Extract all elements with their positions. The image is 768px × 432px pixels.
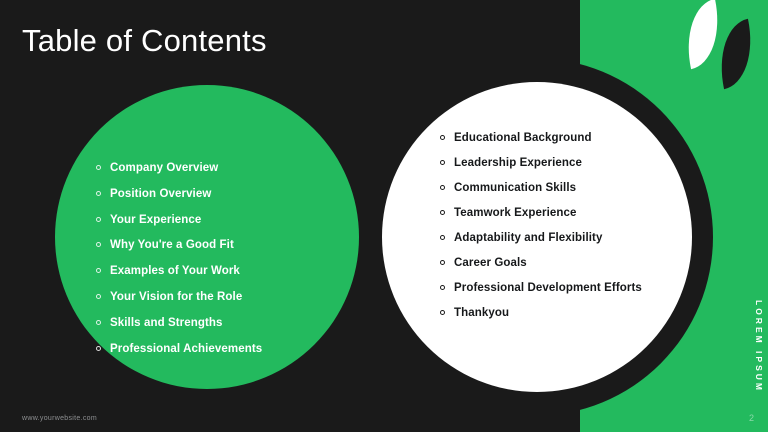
list-item[interactable]: Career Goals — [440, 256, 672, 270]
toc-left-item-label: Professional Achievements — [110, 342, 262, 356]
bullet-circle-icon — [440, 160, 445, 165]
toc-right-item-label: Leadership Experience — [454, 156, 582, 170]
list-item[interactable]: Why You're a Good Fit — [96, 238, 346, 252]
footer-website-url[interactable]: www.yourwebsite.com — [22, 415, 97, 422]
side-label: LOREM IPSUM — [754, 300, 764, 393]
toc-list-left: Company OverviewPosition OverviewYour Ex… — [96, 161, 346, 368]
bullet-circle-icon — [96, 165, 101, 170]
toc-left-item-label: Company Overview — [110, 161, 218, 175]
toc-left-item-label: Examples of Your Work — [110, 264, 240, 278]
list-item[interactable]: Thankyou — [440, 306, 672, 320]
toc-right-item-label: Thankyou — [454, 306, 509, 320]
bullet-circle-icon — [440, 260, 445, 265]
bullet-circle-icon — [440, 235, 445, 240]
bullet-circle-icon — [440, 185, 445, 190]
list-item[interactable]: Professional Achievements — [96, 342, 346, 356]
list-item[interactable]: Professional Development Efforts — [440, 281, 672, 295]
bullet-circle-icon — [96, 191, 101, 196]
bullet-circle-icon — [440, 310, 445, 315]
toc-left-item-label: Position Overview — [110, 187, 211, 201]
bullet-circle-icon — [96, 346, 101, 351]
toc-list-right: Educational BackgroundLeadership Experie… — [440, 131, 672, 331]
toc-right-item-label: Communication Skills — [454, 181, 576, 195]
toc-left-item-label: Your Experience — [110, 213, 201, 227]
page-title: Table of Contents — [22, 22, 267, 59]
list-item[interactable]: Company Overview — [96, 161, 346, 175]
list-item[interactable]: Position Overview — [96, 187, 346, 201]
bullet-circle-icon — [96, 242, 101, 247]
list-item[interactable]: Examples of Your Work — [96, 264, 346, 278]
page-number: 2 — [749, 413, 754, 423]
bullet-circle-icon — [96, 294, 101, 299]
bullet-circle-icon — [440, 285, 445, 290]
list-item[interactable]: Skills and Strengths — [96, 316, 346, 330]
toc-left-item-label: Why You're a Good Fit — [110, 238, 234, 252]
bullet-circle-icon — [96, 217, 101, 222]
list-item[interactable]: Educational Background — [440, 131, 672, 145]
toc-right-item-label: Professional Development Efforts — [454, 281, 642, 295]
slide-canvas: Table of Contents Company OverviewPositi… — [0, 0, 768, 432]
bullet-circle-icon — [96, 320, 101, 325]
toc-right-item-label: Adaptability and Flexibility — [454, 231, 603, 245]
toc-right-item-label: Teamwork Experience — [454, 206, 577, 220]
list-item[interactable]: Adaptability and Flexibility — [440, 231, 672, 245]
list-item[interactable]: Teamwork Experience — [440, 206, 672, 220]
toc-left-item-label: Skills and Strengths — [110, 316, 223, 330]
list-item[interactable]: Communication Skills — [440, 181, 672, 195]
list-item[interactable]: Your Vision for the Role — [96, 290, 346, 304]
toc-right-item-label: Career Goals — [454, 256, 527, 270]
list-item[interactable]: Leadership Experience — [440, 156, 672, 170]
bullet-circle-icon — [96, 268, 101, 273]
list-item[interactable]: Your Experience — [96, 213, 346, 227]
bullet-circle-icon — [440, 135, 445, 140]
toc-right-item-label: Educational Background — [454, 131, 592, 145]
toc-left-item-label: Your Vision for the Role — [110, 290, 242, 304]
bullet-circle-icon — [440, 210, 445, 215]
